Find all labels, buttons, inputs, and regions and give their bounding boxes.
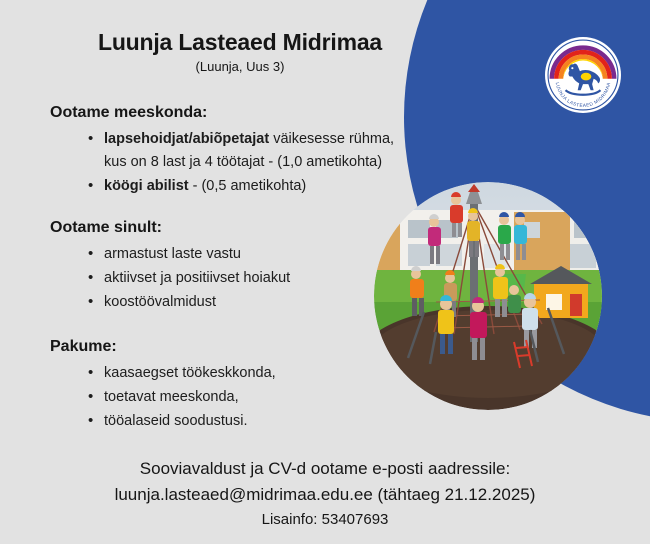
section-heading-offer: Pakume: [50, 338, 370, 356]
offer-list: kaasaegset töökeskkonda, toetavat meesko… [84, 362, 370, 433]
list-item-text: kaasaegset töökeskkonda, [104, 365, 276, 381]
page-subtitle: (Luunja, Uus 3) [0, 59, 480, 74]
list-item: lapsehoidjat/abiõpetajat väikesesse rühm… [84, 128, 402, 174]
list-item: toetavat meeskonda, [84, 386, 370, 409]
job-advertisement-poster: LUUNJA LASTEAED MIDRIMAA [0, 0, 650, 544]
section-offer: Pakume: kaasaegset töökeskkonda, toetava… [50, 338, 370, 434]
section-team: Ootame meeskonda: lapsehoidjat/abiõpetaj… [50, 104, 390, 199]
list-item: armastust laste vastu [84, 243, 370, 266]
kindergarten-logo-icon: LUUNJA LASTEAED MIDRIMAA [545, 37, 621, 113]
list-item-text: koostöövalmidust [104, 294, 216, 310]
expectations-list: armastust laste vastu aktiivset ja posit… [84, 243, 370, 314]
section-expectations: Ootame sinult: armastust laste vastu akt… [50, 219, 370, 315]
contact-footer: Sooviavaldust ja CV-d ootame e-posti aad… [0, 456, 650, 532]
footer-line-email: luunja.lasteaed@midrimaa.edu.ee (tähtaeg… [0, 482, 650, 508]
section-heading-team: Ootame meeskonda: [50, 104, 390, 122]
list-item: tööalaseid soodustusi. [84, 410, 370, 433]
list-item-text: armastust laste vastu [104, 246, 241, 262]
list-item-text: aktiivset ja positiivset hoiakut [104, 270, 290, 286]
list-item: aktiivset ja positiivset hoiakut [84, 267, 370, 290]
list-item: kaasaegset töökeskkonda, [84, 362, 370, 385]
list-item-bold: lapsehoidjat/abiõpetajat [104, 131, 269, 147]
list-item: köögi abilist - (0,5 ametikohta) [84, 175, 402, 198]
page-title: Luunja Lasteaed Midrimaa [0, 29, 480, 56]
list-item-text: tööalaseid soodustusi. [104, 413, 248, 429]
footer-line-phone: Lisainfo: 53407693 [0, 508, 650, 532]
list-item-text: - (0,5 ametikohta) [189, 178, 307, 194]
team-list: lapsehoidjat/abiõpetajat väikesesse rühm… [84, 128, 390, 198]
footer-line-application: Sooviavaldust ja CV-d ootame e-posti aad… [0, 456, 650, 482]
list-item: koostöövalmidust [84, 291, 370, 314]
list-item-text: toetavat meeskonda, [104, 389, 239, 405]
section-heading-expectations: Ootame sinult: [50, 219, 370, 237]
list-item-bold: köögi abilist [104, 178, 189, 194]
staff-group-photo [374, 182, 602, 410]
